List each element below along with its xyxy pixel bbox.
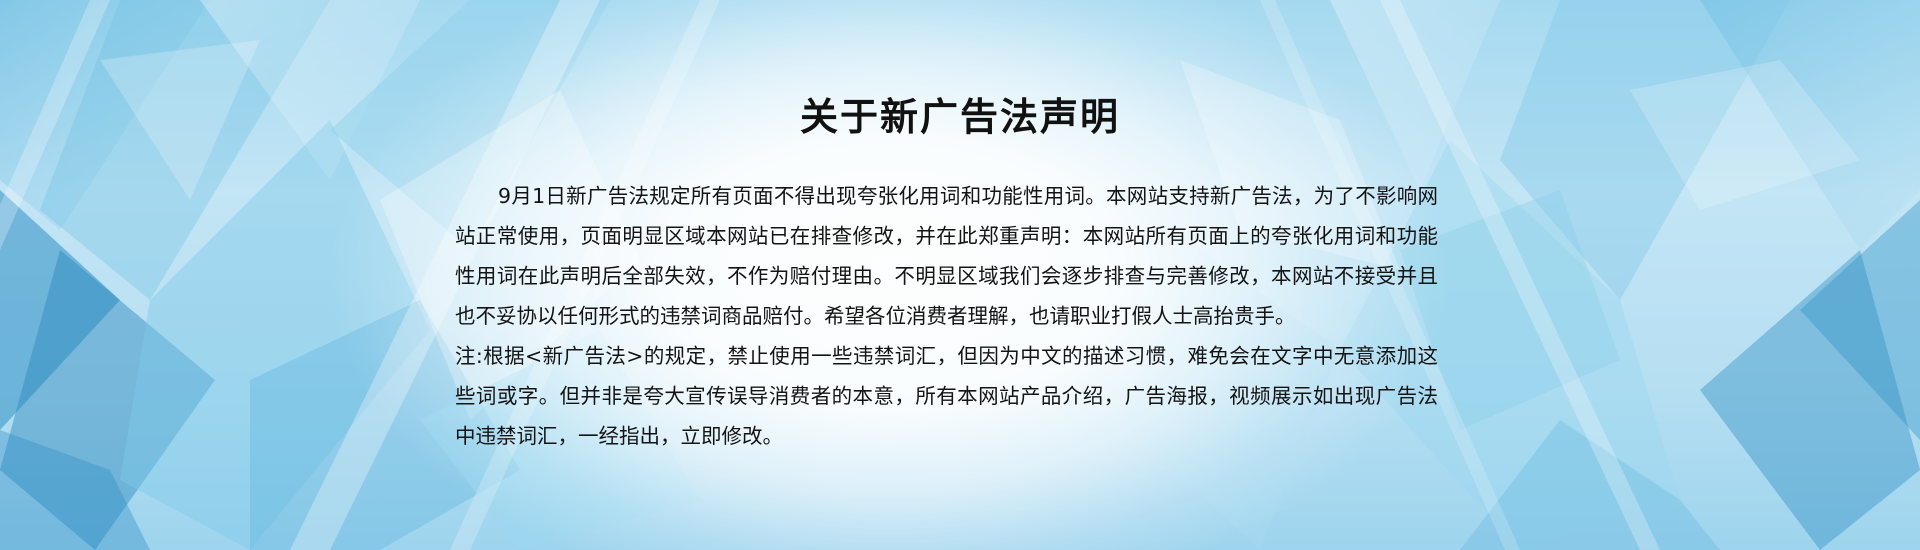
statement-content: 关于新广告法声明 9月1日新广告法规定所有页面不得出现夸张化用词和功能性用词。本… bbox=[0, 0, 1920, 550]
page-title: 关于新广告法声明 bbox=[0, 86, 1920, 141]
advertising-law-statement-banner: 关于新广告法声明 9月1日新广告法规定所有页面不得出现夸张化用词和功能性用词。本… bbox=[0, 0, 1920, 550]
statement-paragraph-body: 9月1日新广告法规定所有页面不得出现夸张化用词和功能性用词。本网站支持新广告法，… bbox=[455, 176, 1438, 336]
statement-paragraph-note: 注:根据<新广告法>的规定，禁止使用一些违禁词汇，但因为中文的描述习惯，难免会在… bbox=[455, 336, 1438, 456]
statement-text-block: 9月1日新广告法规定所有页面不得出现夸张化用词和功能性用词。本网站支持新广告法，… bbox=[455, 176, 1438, 456]
